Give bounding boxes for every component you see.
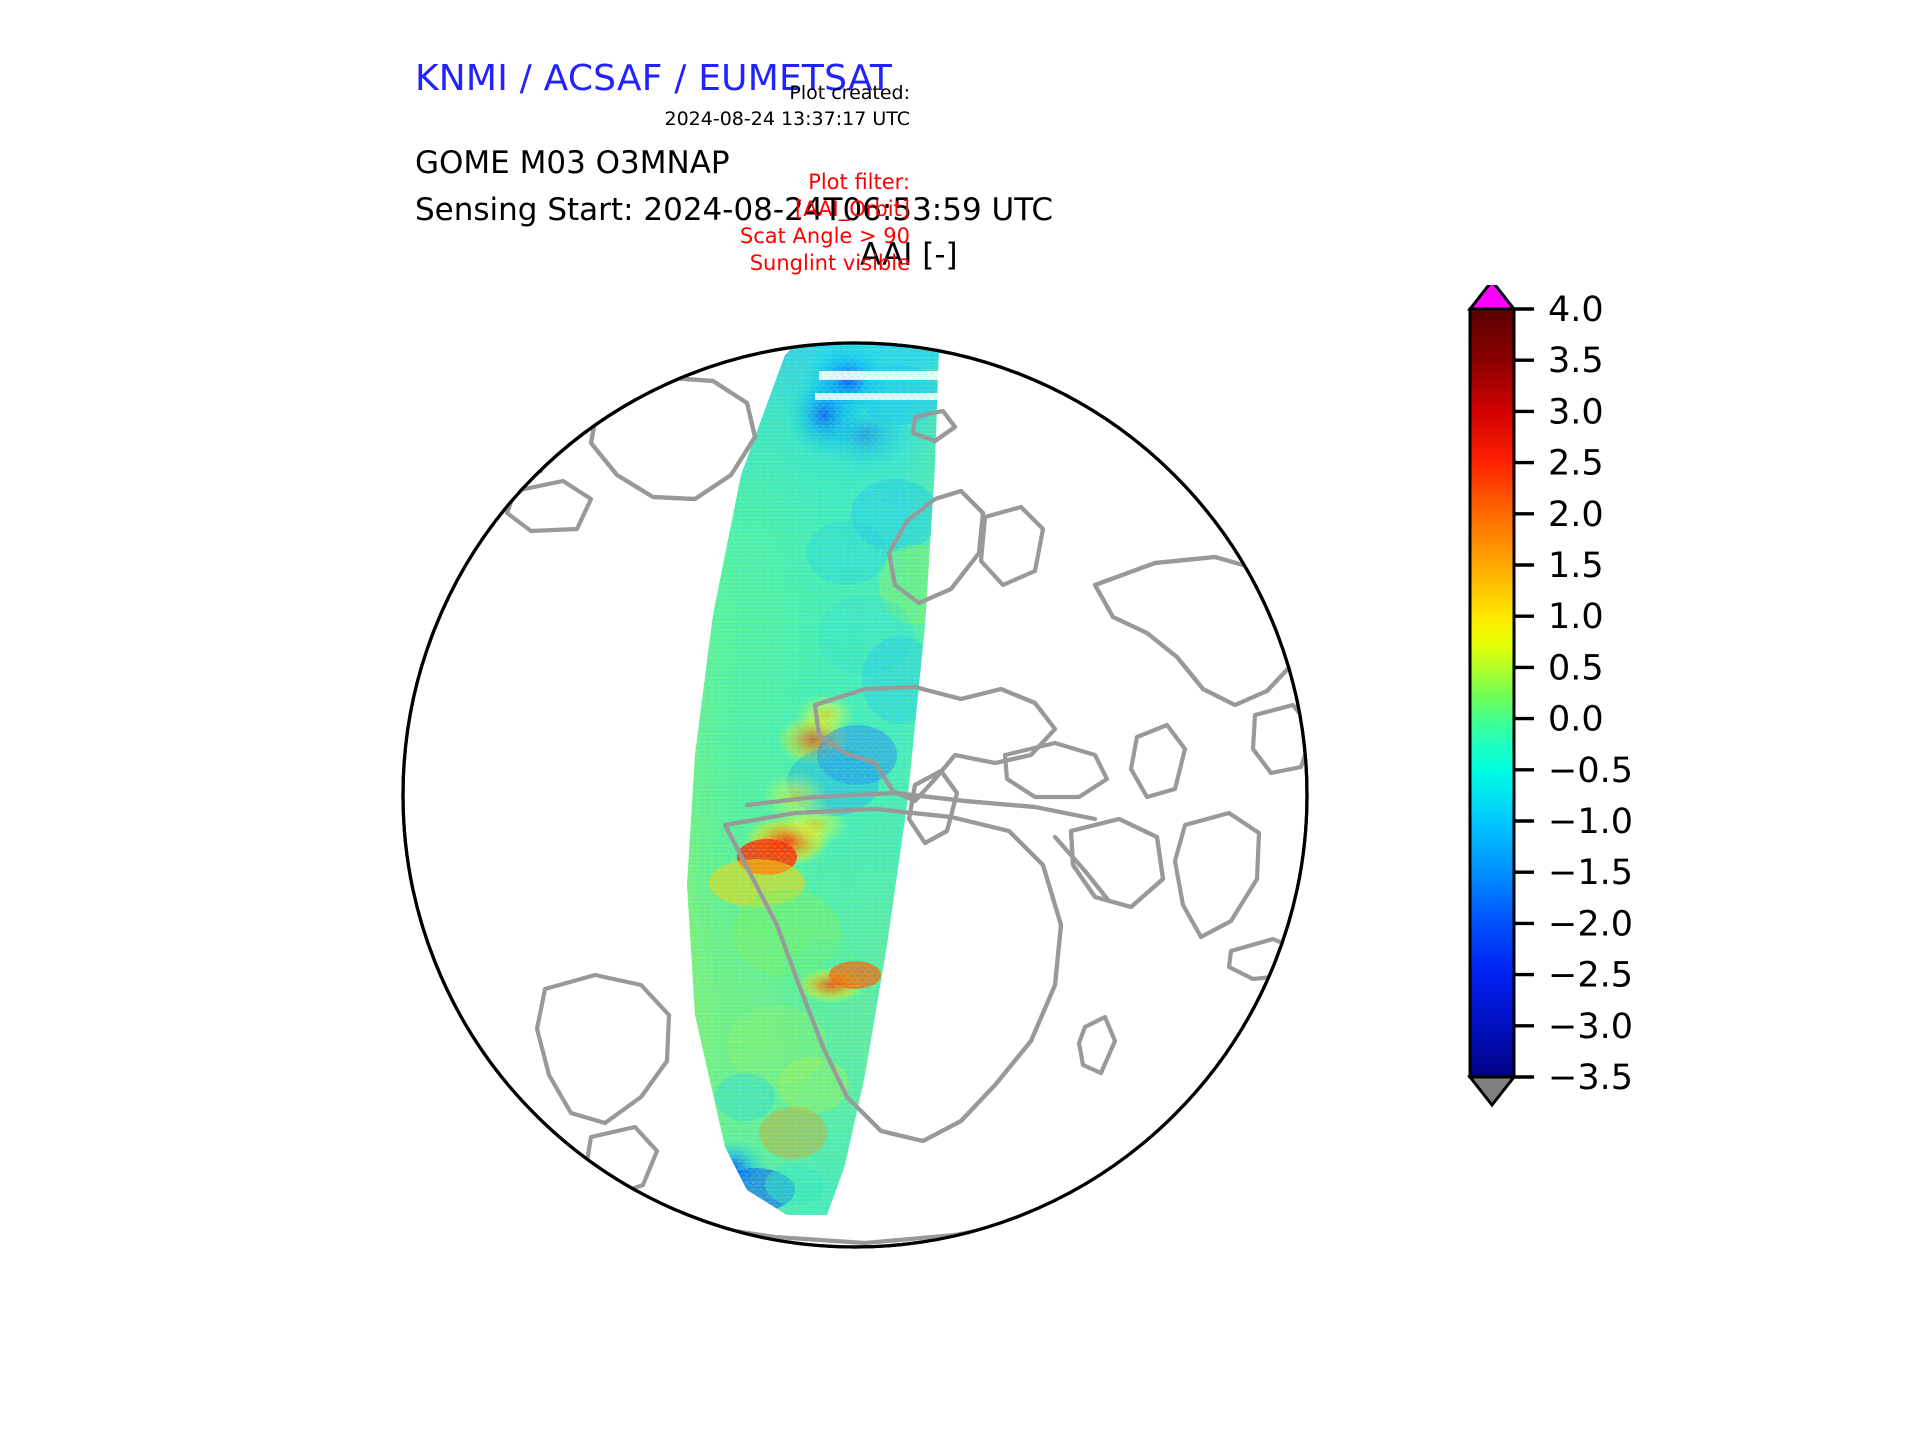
plot-filter-scat-angle: Scat Angle > 90 bbox=[740, 224, 910, 248]
colorbar-under-arrow bbox=[1470, 1077, 1514, 1105]
colorbar-panel: 4.03.53.02.52.01.51.00.50.0−0.5−1.0−1.5−… bbox=[1440, 285, 1700, 1305]
sensing-start-label: Sensing Start: 2024-08-24T06:53:59 UTC bbox=[415, 192, 1053, 228]
colorbar-tick-label: 2.0 bbox=[1548, 495, 1604, 535]
colorbar-tick-label: −1.0 bbox=[1548, 802, 1633, 842]
orthographic-globe bbox=[395, 285, 1315, 1305]
plot-filter-heading: Plot filter: bbox=[808, 170, 910, 194]
colorbar-tick-label: 3.0 bbox=[1548, 392, 1604, 432]
colorbar-tick-label: 0.5 bbox=[1548, 648, 1604, 688]
colorbar-tick-label: 1.5 bbox=[1548, 546, 1604, 586]
colorbar-tick-label: −2.0 bbox=[1548, 904, 1633, 944]
plot-filter-sunglint: Sunglint visible bbox=[750, 251, 910, 275]
map-panel bbox=[395, 285, 1315, 1305]
colorbar-over-arrow bbox=[1470, 285, 1514, 309]
colorbar-tick-label: 4.0 bbox=[1548, 290, 1604, 330]
colorbar-tick-label: −2.5 bbox=[1548, 956, 1633, 996]
colorbar-tick-label: −1.5 bbox=[1548, 853, 1633, 893]
colorbar-tick-label: 0.0 bbox=[1548, 700, 1604, 740]
plot-created-label: Plot created: bbox=[789, 82, 910, 104]
colorbar-tick-label: 2.5 bbox=[1548, 444, 1604, 484]
colorbar-tick-label: −3.0 bbox=[1548, 1007, 1633, 1047]
colorbar-gradient bbox=[1470, 309, 1514, 1077]
plot-filter-name: [AAI_Orbit] bbox=[795, 197, 910, 221]
colorbar-tick-label: −3.5 bbox=[1548, 1058, 1633, 1098]
colorbar-tick-label: −0.5 bbox=[1548, 751, 1633, 791]
colorbar-tick-label: 3.5 bbox=[1548, 341, 1604, 381]
colorbar-ticks: 4.03.53.02.52.01.51.00.50.0−0.5−1.0−1.5−… bbox=[1514, 290, 1633, 1098]
instrument-title: GOME M03 O3MNAP bbox=[415, 145, 730, 181]
colorbar: 4.03.53.02.52.01.51.00.50.0−0.5−1.0−1.5−… bbox=[1440, 285, 1700, 1305]
plot-created-timestamp: 2024-08-24 13:37:17 UTC bbox=[665, 108, 911, 130]
colorbar-tick-label: 1.0 bbox=[1548, 597, 1604, 637]
